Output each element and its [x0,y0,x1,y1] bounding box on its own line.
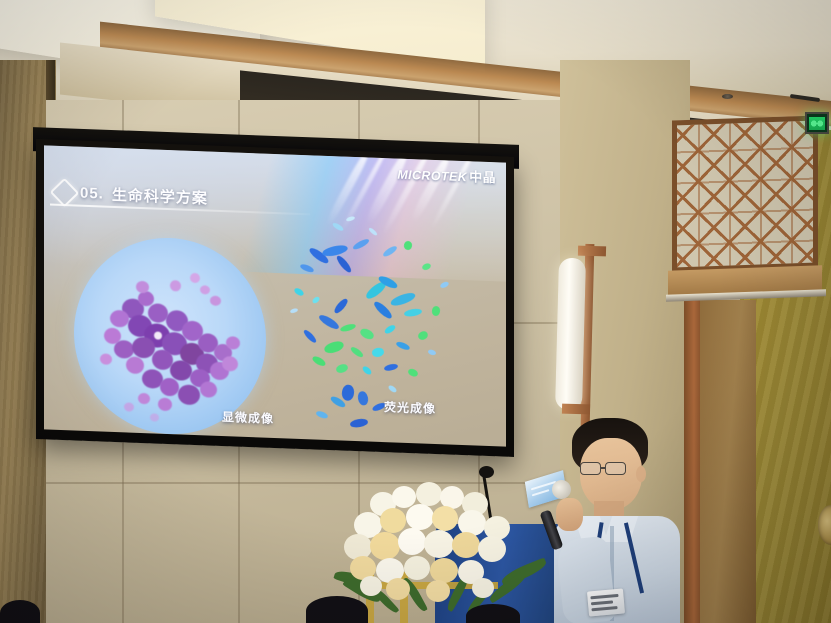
door-panel [700,300,756,623]
emergency-exit-sign [805,112,829,134]
audience-silhouette [306,596,368,623]
exit-running-man-icon [809,117,825,130]
presenter-ear [636,466,646,482]
glasses-lens-right [605,462,626,475]
decorative-lattice-panel [672,115,818,272]
badge [587,588,625,616]
presenter-hand [556,498,583,531]
page-title: 生命科学方案 [112,184,208,209]
glasses-lens-left [580,462,601,475]
section-number: 05. [80,185,104,203]
lattice-pattern [672,115,818,272]
screen-frame: MICROTEK中晶 05. 生命科学方案 [36,139,514,457]
fluorescence-caption: 荧光成像 [384,398,436,417]
microscopy-caption: 显微成像 [222,408,274,427]
presentation-slide: MICROTEK中晶 05. 生命科学方案 [44,145,506,446]
logo-chinese: 中晶 [469,169,496,185]
gooseneck-microphone-head [479,466,494,478]
fluorescence-image [272,204,490,447]
glasses-bridge [601,467,606,469]
logo-latin: MICROTEK [397,168,467,185]
audience-silhouette [466,604,520,623]
projection-screen: MICROTEK中晶 05. 生命科学方案 [36,139,514,457]
presentation-photo: MICROTEK中晶 05. 生命科学方案 [0,0,831,623]
presenter [528,418,703,623]
wall-sconce-light [555,258,586,411]
sconce-cap-bottom [562,404,590,415]
downlight-icon [722,94,733,99]
sconce-cap-top [578,246,606,257]
microtek-logo: MICROTEK中晶 [397,164,496,187]
audience-silhouette [0,600,40,623]
